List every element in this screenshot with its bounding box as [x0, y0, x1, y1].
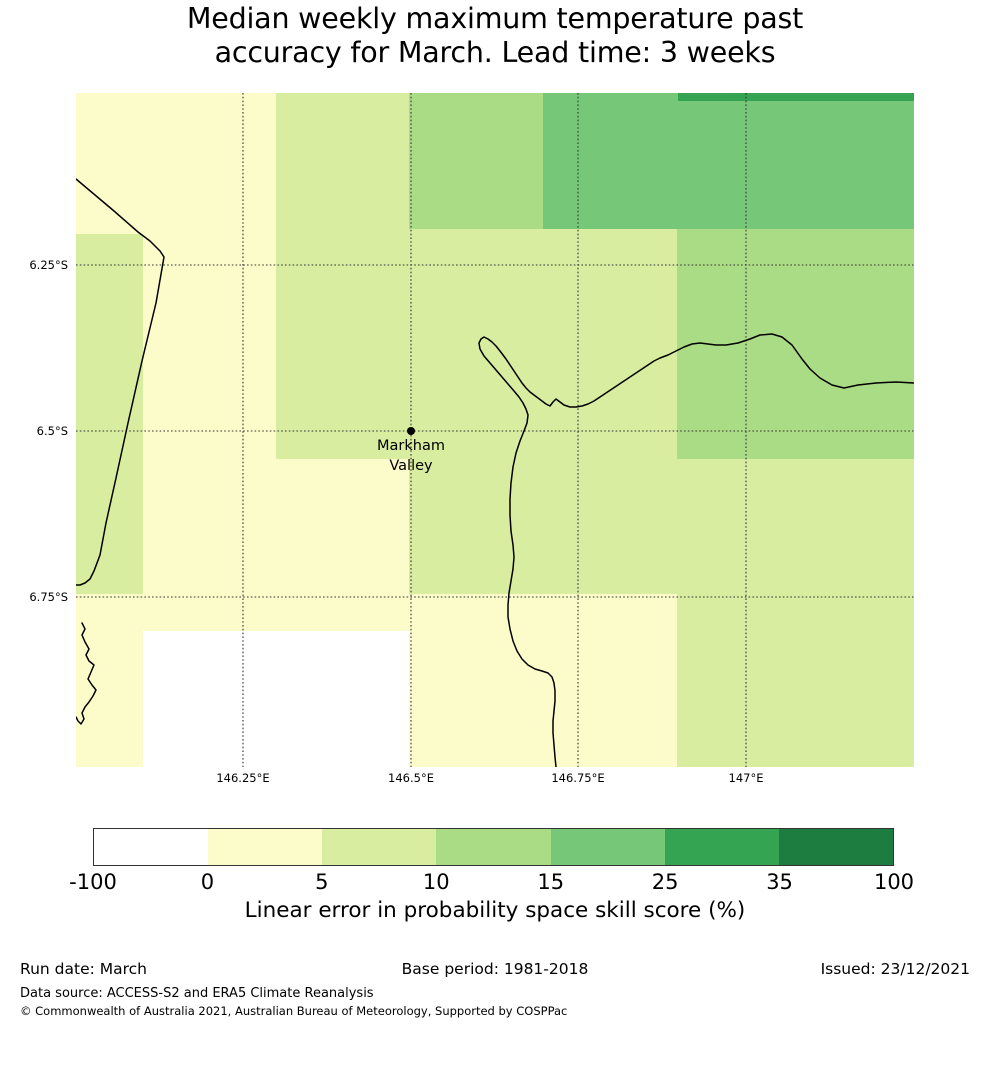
colorbar-segment-1	[208, 829, 322, 865]
footer: Run date: March Base period: 1981-2018 I…	[0, 960, 990, 984]
heatmap-cell	[409, 594, 677, 716]
x-tick-label-1: 146.5°E	[351, 771, 471, 785]
colorbar-segment-4	[551, 829, 665, 865]
map-plot-area[interactable]	[76, 93, 914, 767]
colorbar-segment-0	[94, 829, 208, 865]
heatmap-cell	[276, 234, 409, 359]
heatmap-cell	[409, 459, 677, 509]
heatmap-cell	[143, 631, 409, 767]
heatmap-cell	[409, 716, 677, 767]
heatmap-cell	[677, 93, 914, 229]
heatmap-cell	[76, 509, 143, 594]
copyright-text: © Commonwealth of Australia 2021, Austra…	[20, 1004, 567, 1018]
x-tick-label-3: 147°E	[686, 771, 806, 785]
colorbar-gradient[interactable]	[93, 828, 894, 866]
heatmap-cell	[677, 459, 914, 509]
markham-valley-label: Markham Valley	[377, 436, 445, 476]
heatmap-cell	[76, 459, 143, 509]
heatmap-cell	[143, 509, 409, 594]
heatmap-cell	[276, 93, 409, 234]
heatmap-cell	[143, 359, 276, 459]
heatmap-cell	[409, 234, 677, 359]
heatmap-cell	[677, 234, 914, 359]
colorbar-segment-6	[779, 829, 893, 865]
issued-date-text: Issued: 23/12/2021	[821, 960, 970, 978]
heatmap-cell	[76, 359, 143, 459]
colorbar[interactable]	[93, 828, 894, 866]
y-tick-label-2: 6.75°S	[0, 590, 68, 604]
heatmap-cell	[76, 234, 143, 359]
data-source-text: Data source: ACCESS-S2 and ERA5 Climate …	[20, 986, 374, 1001]
heatmap-cell	[677, 359, 914, 459]
heatmap-cell	[76, 93, 276, 234]
heatmap-cell	[143, 459, 409, 509]
y-tick-label-1: 6.5°S	[0, 424, 68, 438]
x-tick-label-2: 146.75°E	[518, 771, 638, 785]
x-tick-label-0: 146.25°E	[183, 771, 303, 785]
colorbar-segment-5	[665, 829, 779, 865]
heatmap-cell	[409, 359, 677, 459]
y-tick-label-0: 6.25°S	[0, 258, 68, 272]
colorbar-title: Linear error in probability space skill …	[0, 898, 990, 923]
colorbar-segment-3	[436, 829, 550, 865]
heatmap-cell	[678, 93, 914, 101]
footer-row-primary: Run date: March Base period: 1981-2018 I…	[0, 960, 990, 984]
colorbar-segment-2	[322, 829, 436, 865]
colorbar-tick-7: 100	[814, 870, 974, 894]
page-title: Median weekly maximum temperature past a…	[0, 2, 990, 70]
heatmap-cell	[409, 509, 677, 594]
heatmap-cell	[76, 716, 143, 767]
heatmap-cell	[677, 509, 914, 594]
heatmap-cell	[409, 93, 543, 229]
heatmap-cell	[143, 234, 276, 359]
heatmap-cell	[543, 93, 677, 229]
heatmap-cell	[677, 594, 914, 767]
